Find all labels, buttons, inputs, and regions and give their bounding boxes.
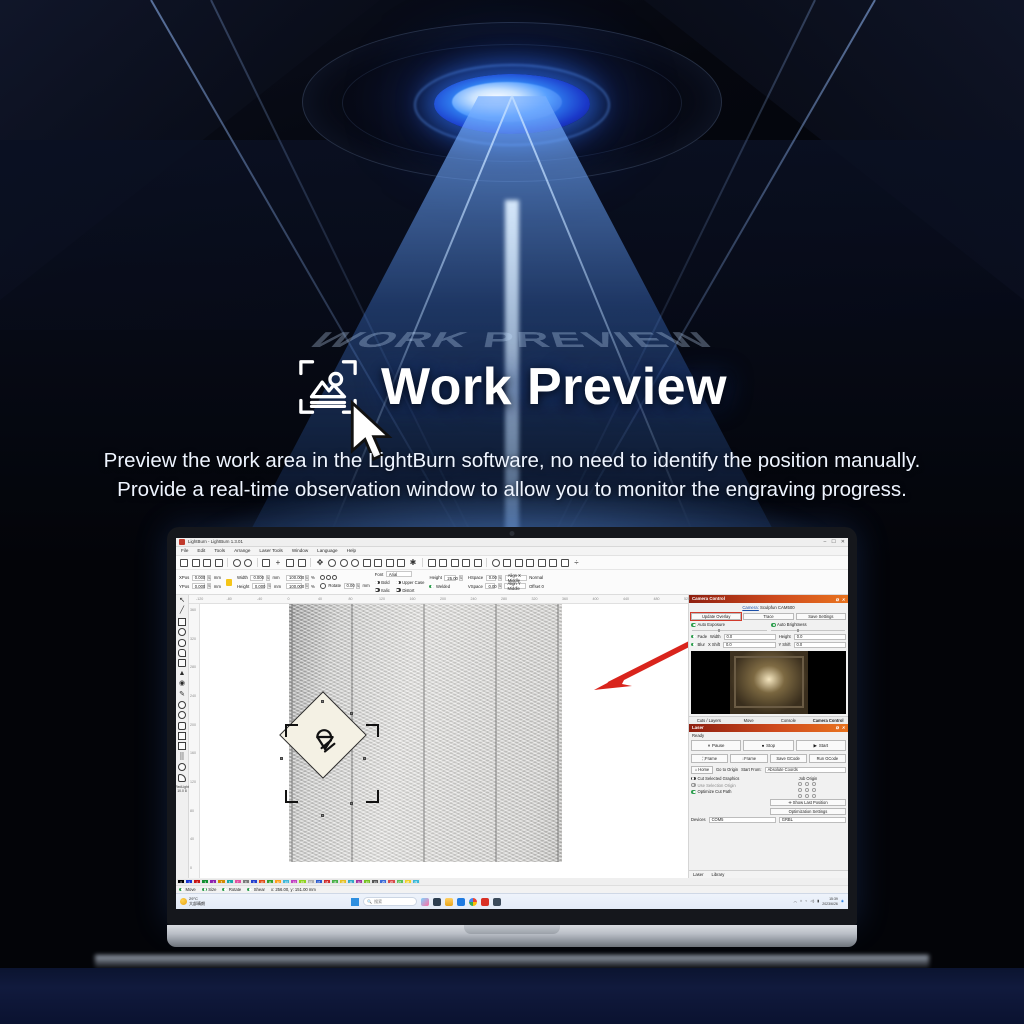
laser-secondary-buttons[interactable]: ⛶ Frame ◌ Frame Save GCode Run GCode	[689, 753, 848, 765]
camera-value[interactable]: Sculpfun CAM500	[760, 605, 795, 610]
auto-exposure-label: Auto Exposure	[698, 622, 725, 627]
optimization-settings-button[interactable]: Optimization Settings	[770, 808, 846, 815]
job-origin-label: Job Origin	[770, 776, 846, 781]
run-gcode-button[interactable]: Run GCode	[809, 754, 846, 763]
close-button[interactable]: ✕	[841, 539, 845, 545]
canvas-area[interactable]: -120-80-40040801201602002402803203604004…	[189, 595, 688, 878]
lock-icon[interactable]	[226, 579, 232, 586]
width-input[interactable]: 0.0	[724, 634, 776, 640]
ruler-tick: 200	[190, 723, 196, 727]
selection-handle[interactable]	[280, 757, 283, 760]
rotate-input[interactable]: 0.00	[344, 583, 354, 589]
palette-swatch[interactable]: 29	[412, 879, 420, 884]
protocol-select[interactable]: GRBL	[779, 817, 846, 823]
vspace-label: VSpace	[468, 584, 483, 589]
device-label: Devices	[691, 817, 706, 822]
use-selection-origin-label: Use Selection Origin	[698, 783, 736, 788]
palette-swatch[interactable]: 0	[177, 879, 185, 884]
delete-icon[interactable]	[298, 559, 306, 567]
select-tool[interactable]: ↖	[178, 597, 186, 605]
frame-circle-label: Frame	[744, 756, 756, 761]
subtitle-line-1: Preview the work area in the LightBurn s…	[0, 446, 1024, 475]
lock-aspect-group[interactable]	[226, 572, 232, 592]
job-origin-grid[interactable]	[798, 782, 819, 798]
align-center-icon[interactable]	[462, 559, 470, 567]
frame-circle-button[interactable]: ◌ Frame	[730, 754, 767, 763]
laptop-notch	[464, 925, 560, 934]
palette-swatch[interactable]: 21	[347, 879, 355, 884]
close-icon[interactable]: ✕	[842, 597, 845, 602]
palette-swatch[interactable]: 9	[250, 879, 258, 884]
lens-core-highlight	[452, 82, 562, 122]
home-icon: ⌂	[695, 767, 697, 772]
xpos-input[interactable]: 0.000	[192, 575, 205, 581]
windows-taskbar[interactable]: 29°C 大部晴朗 🔍 搜索	[176, 893, 848, 909]
auto-brightness-toggle[interactable]: Auto Brightness	[771, 622, 847, 627]
offset-tool[interactable]	[178, 722, 186, 730]
taskbar-center[interactable]: 🔍 搜索	[351, 897, 501, 906]
rounded-rect-tool[interactable]	[178, 659, 186, 667]
menu-arrange[interactable]: Arrange	[234, 548, 250, 554]
cut-icon[interactable]	[262, 559, 270, 567]
grid-icon[interactable]	[561, 559, 569, 567]
palette-swatch[interactable]: 4	[209, 879, 217, 884]
settings-icon[interactable]: ✱	[409, 559, 418, 567]
selection-corner[interactable]	[285, 724, 298, 737]
selection-handle[interactable]	[321, 700, 324, 703]
ruler-tick: -80	[227, 597, 232, 601]
toolbar-separator	[257, 558, 258, 567]
cursor-coordinates: x: 256.00, y: 151.00 mm	[271, 887, 316, 892]
paint-icon[interactable]	[421, 898, 429, 906]
ypos-input[interactable]: 0.000	[192, 583, 205, 589]
close-icon[interactable]: ✕	[842, 725, 845, 730]
laser-origin-row[interactable]: ⌂ Home Go to Origin Start From: Absolute…	[689, 765, 848, 775]
copy-icon[interactable]: +	[274, 559, 283, 567]
use-selection-origin-toggle[interactable]: Use Selection Origin	[691, 783, 767, 788]
frame-square-button[interactable]: ⛶ Frame	[691, 754, 728, 763]
float-window-icon[interactable]: ⧉	[836, 597, 839, 602]
palette-swatch[interactable]: 5	[217, 879, 225, 884]
tab-cuts-layers[interactable]: Cuts / Layers	[689, 717, 729, 724]
palette-swatch[interactable]: 17	[315, 879, 323, 884]
property-bar[interactable]: XPos 0.000 ⇅ mm YPos 0.000 ⇅ mm	[176, 570, 848, 595]
search-input[interactable]: 🔍 搜索	[363, 897, 417, 906]
blur-toggle[interactable]: Blur	[691, 642, 705, 647]
search-icon: 🔍	[367, 899, 372, 904]
hspace-stepper[interactable]: ⇅	[498, 575, 502, 581]
battery-icon[interactable]: ▮	[817, 899, 819, 903]
y-shift-label: Y Shift	[779, 642, 791, 647]
camera-control-title: Camera Control	[692, 596, 725, 602]
pause-button[interactable]: ⏸ Pause	[691, 740, 741, 751]
circle-center-tool[interactable]	[178, 701, 186, 709]
height-input[interactable]: 0.000	[252, 583, 265, 589]
store-icon[interactable]	[457, 898, 465, 906]
move-icon[interactable]: ✥	[316, 559, 325, 567]
bold-toggle[interactable]: Bold	[375, 580, 390, 585]
radial-array-tool[interactable]	[178, 763, 186, 771]
tool-palette[interactable]: ↖ ╱ ▲ ◉ ✎	[176, 595, 189, 878]
device-select[interactable]: COM5	[709, 817, 776, 823]
tab-library[interactable]: Library	[707, 871, 728, 878]
array-icon[interactable]	[549, 559, 557, 567]
home-button[interactable]: ⌂ Home	[691, 766, 713, 774]
xpos-label: XPos	[179, 575, 189, 580]
chrome-icon[interactable]	[469, 898, 477, 906]
rectangle-tool[interactable]	[178, 618, 186, 626]
shear-label: Shear	[254, 887, 265, 892]
engraving-artwork-icon	[308, 720, 342, 754]
palette-swatch[interactable]: 16	[307, 879, 315, 884]
align-left-icon[interactable]	[451, 559, 459, 567]
text-height-label: Height	[429, 575, 441, 580]
menu-window[interactable]: Window	[292, 548, 308, 554]
width-input[interactable]: 0.000	[250, 575, 263, 581]
selection-handle[interactable]	[363, 757, 366, 760]
selection-corner[interactable]	[366, 790, 379, 803]
trace-image-tool[interactable]	[178, 774, 186, 782]
zoom-fit-icon[interactable]	[351, 559, 359, 567]
shear-toggle[interactable]: Shear	[247, 887, 265, 892]
cut-selected-graphics-label: Cut Selected Graphics	[698, 776, 740, 781]
new-file-icon[interactable]	[180, 559, 188, 567]
palette-swatch[interactable]: 25	[379, 879, 387, 884]
palette-swatch[interactable]: 19	[331, 879, 339, 884]
save-settings-button[interactable]: Save Settings	[796, 613, 846, 620]
ruler-tick: 280	[501, 597, 507, 601]
camera-label: Camera:	[742, 605, 758, 610]
clock-date: 2023/6/26	[822, 902, 838, 906]
cut-selected-graphics-toggle[interactable]: Cut Selected Graphics	[691, 776, 767, 781]
optimize-cut-path-toggle[interactable]: Optimize Cut Path	[691, 789, 767, 794]
go-to-origin-label[interactable]: Go to Origin	[716, 767, 738, 772]
grid-array-tool[interactable]	[178, 742, 186, 750]
align-x-select[interactable]: Align X Middle	[505, 575, 527, 581]
ellipse-tool[interactable]	[178, 628, 186, 636]
upper-case-label: Upper Case	[402, 580, 424, 585]
rotate-unit: mm	[363, 583, 370, 588]
xpos-stepper[interactable]: ⇅	[207, 575, 211, 581]
offset-icon[interactable]: ÷	[572, 559, 581, 567]
redo-icon[interactable]	[244, 559, 252, 567]
camera-live-view[interactable]	[691, 651, 846, 714]
align-right-icon[interactable]	[474, 559, 482, 567]
workspace-row: ↖ ╱ ▲ ◉ ✎	[176, 595, 848, 878]
start-label: Start	[819, 743, 828, 749]
dot-grid-tool[interactable]: ⣿	[178, 753, 186, 761]
pause-label: Pause	[712, 743, 724, 749]
float-window-icon[interactable]: ⧉	[836, 725, 839, 730]
menu-language[interactable]: Language	[317, 548, 337, 554]
selection-handle[interactable]	[350, 802, 353, 805]
network-icon[interactable]: ⌗	[800, 899, 802, 903]
recorder-icon[interactable]	[481, 898, 489, 906]
chevron-up-icon[interactable]: ︿	[794, 899, 798, 903]
palette-swatch[interactable]: 28	[404, 879, 412, 884]
circle-tool[interactable]	[178, 639, 186, 647]
ruler-tick: 240	[471, 597, 477, 601]
palette-swatch[interactable]: 1	[185, 879, 193, 884]
draw-line-tool[interactable]: ╱	[178, 607, 186, 615]
x-shift-input[interactable]: 0.0	[723, 642, 776, 648]
optimize-cut-path-label: Optimize Cut Path	[698, 789, 732, 794]
update-overlay-button[interactable]: Update Overlay	[691, 613, 741, 620]
rotate-label: Rotate	[229, 887, 241, 892]
camera-blur-row[interactable]: Blur X Shift 0.0 Y Shift 0.0	[689, 641, 848, 649]
selection-corner[interactable]	[285, 790, 298, 803]
palette-swatch[interactable]: 2	[193, 879, 201, 884]
palette-swatch[interactable]: 13	[282, 879, 290, 884]
welded-toggle[interactable]: Welded	[429, 584, 450, 589]
font-select[interactable]: Arial	[386, 571, 412, 577]
app-icon[interactable]	[493, 898, 501, 906]
palette-swatch[interactable]: 15	[298, 879, 306, 884]
window-controls[interactable]: – ☐ ✕	[824, 539, 845, 545]
notification-icon[interactable]: ◉	[841, 899, 844, 903]
brightness-slider[interactable]	[771, 629, 846, 632]
save-as-icon[interactable]	[215, 559, 223, 567]
design-canvas[interactable]	[200, 604, 688, 878]
palette-swatch[interactable]: 24	[371, 879, 379, 884]
scale-group: 100.000 ⇅ % 100.000 ⇅ %	[286, 572, 315, 592]
rotate-anchor-icon[interactable]	[326, 575, 331, 580]
palette-swatch[interactable]: 20	[339, 879, 347, 884]
palette-swatch[interactable]: 10	[258, 879, 266, 884]
menu-bar[interactable]: File Edit Tools Arrange Laser Tools Wind…	[176, 547, 848, 556]
distort-toggle[interactable]: Distort	[396, 588, 415, 593]
lightburn-logo-icon	[179, 539, 185, 545]
laptop-mockup: LightBurn - LightBurn 1.3.01 – ☐ ✕ File …	[167, 527, 857, 947]
app-title: LightBurn - LightBurn 1.3.01	[188, 539, 243, 545]
polygon-tool[interactable]	[178, 649, 186, 657]
camera-selector-row[interactable]: Camera: Sculpfun CAM500	[689, 603, 848, 611]
y-shift-input[interactable]: 0.0	[794, 642, 847, 648]
paste-icon[interactable]	[286, 559, 294, 567]
move-label: Move	[186, 887, 196, 892]
palette-swatch[interactable]: 18	[323, 879, 331, 884]
palette-swatch[interactable]: 14	[290, 879, 298, 884]
upper-case-toggle[interactable]: Upper Case	[396, 580, 425, 585]
boolean-icon[interactable]	[538, 559, 546, 567]
mirror-v-icon[interactable]	[439, 559, 447, 567]
move-toggle[interactable]: Move	[179, 887, 196, 892]
camera-auto-toggles[interactable]: Auto Exposure Auto Brightness	[689, 621, 848, 628]
menu-edit[interactable]: Edit	[197, 548, 205, 554]
redlight-value: 10.0 8	[176, 790, 189, 794]
size-toggle[interactable]: Size	[202, 887, 217, 892]
wifi-icon[interactable]: ⌁	[805, 899, 807, 903]
zoom-in-icon[interactable]	[328, 559, 336, 567]
weld-icon[interactable]	[526, 559, 534, 567]
dock-tabs[interactable]: Cuts / Layers Move Console Camera Contro…	[689, 716, 848, 724]
weather-widget[interactable]: 29°C 大部晴朗	[180, 897, 205, 906]
height-label: Height	[237, 584, 249, 589]
ruler-tick: 0	[288, 597, 290, 601]
preview-icon[interactable]	[386, 559, 394, 567]
clock[interactable]: 15:39 2023/6/26	[822, 897, 838, 905]
xpos-unit: mm	[214, 575, 221, 580]
ruler-tick: 0	[190, 866, 192, 870]
crosshair-icon: ✛	[788, 800, 791, 805]
open-file-icon[interactable]	[192, 559, 200, 567]
volume-icon[interactable]: ◁)	[810, 899, 814, 903]
ungroup-icon[interactable]	[515, 559, 523, 567]
start-from-select[interactable]: Absolute Coords	[765, 767, 846, 773]
height-input[interactable]: 0.0	[794, 634, 846, 640]
selection-corner[interactable]	[366, 724, 379, 737]
menu-help[interactable]: Help	[347, 548, 356, 554]
palette-swatch[interactable]: 12	[274, 879, 282, 884]
annotation-arrow	[588, 636, 688, 692]
selection-handle[interactable]	[321, 814, 324, 817]
tab-camera-control[interactable]: Camera Control	[808, 717, 848, 724]
start-button[interactable]: ▶ Start	[796, 740, 846, 751]
ypos-stepper[interactable]: ⇅	[207, 583, 211, 589]
frame-icon[interactable]	[363, 559, 371, 567]
main-toolbar[interactable]: + ✥ ✱	[176, 556, 848, 570]
tab-move[interactable]: Move	[729, 717, 769, 724]
copy-array-tool[interactable]	[178, 732, 186, 740]
ruler-tick: 240	[190, 694, 196, 698]
laptop-screen: LightBurn - LightBurn 1.3.01 – ☐ ✕ File …	[176, 538, 848, 909]
trace-button[interactable]: Trace	[743, 613, 793, 620]
rotate-center-icon[interactable]	[320, 583, 326, 589]
normal-label: Normal	[529, 575, 543, 580]
palette-swatch[interactable]: 22	[355, 879, 363, 884]
color-palette[interactable]: 0123456789101112131415161718192021222324…	[176, 878, 848, 885]
show-last-position-button[interactable]: ✛ Show Last Position	[770, 799, 846, 806]
rotate-icon[interactable]	[492, 559, 500, 567]
ruler-tick: 440	[623, 597, 629, 601]
status-bar: Move Size Rotate Shear x: 256.00, y: 151…	[176, 885, 848, 893]
window-icon[interactable]	[433, 898, 441, 906]
promo-scene: WORK PREVIEW Work Preview Preview the wo…	[0, 0, 1024, 1024]
ruler-tick: 120	[379, 597, 385, 601]
minimize-button[interactable]: –	[824, 539, 827, 545]
palette-swatch[interactable]: 23	[363, 879, 371, 884]
italic-toggle[interactable]: Italic	[375, 588, 390, 593]
width-label: Width	[237, 575, 248, 580]
vspace-stepper[interactable]: ⇅	[498, 583, 502, 589]
tab-console[interactable]: Console	[769, 717, 809, 724]
pause-icon: ⏸	[708, 743, 710, 749]
desk-reflection	[95, 955, 929, 969]
palette-swatch[interactable]: 3	[201, 879, 209, 884]
laptop-lid: LightBurn - LightBurn 1.3.01 – ☐ ✕ File …	[167, 527, 857, 925]
camera-icon[interactable]	[374, 559, 382, 567]
align-y-select[interactable]: Align Y Middle	[504, 583, 526, 589]
size-group: Width 0.000 ⇅ mm Height 0.000 ⇅ mm	[237, 572, 281, 592]
hspace-label: HSpace	[468, 575, 483, 580]
zoom-out-icon[interactable]	[340, 559, 348, 567]
width-scale-input[interactable]: 100.000	[286, 575, 302, 581]
tool-icon[interactable]	[397, 559, 405, 567]
palette-swatch[interactable]: 7	[234, 879, 242, 884]
ruler-tick: 280	[190, 665, 196, 669]
text-height-input[interactable]: 25.00	[444, 575, 456, 581]
toolbar-separator	[422, 558, 423, 567]
rotate-stepper[interactable]: ⇅	[356, 583, 360, 589]
save-icon[interactable]	[203, 559, 211, 567]
laser-library-tabs[interactable]: Laser Library	[689, 870, 848, 878]
hspace-input[interactable]: 0.00	[486, 575, 496, 581]
mirror-h-icon[interactable]	[428, 559, 436, 567]
boolean-union-tool[interactable]	[178, 711, 186, 719]
weather-desc: 大部晴朗	[189, 902, 205, 906]
italic-label: Italic	[381, 588, 390, 593]
ruler-tick: 80	[190, 809, 194, 813]
height-stepper[interactable]: ⇅	[267, 583, 271, 589]
rotate-anchor-icon[interactable]	[332, 575, 337, 580]
vspace-input[interactable]: 0.00	[485, 583, 495, 589]
height-scale-stepper[interactable]: ⇅	[305, 583, 309, 589]
stop-button[interactable]: ⏹ Stop	[743, 740, 793, 751]
ruler-tick: 360	[562, 597, 568, 601]
file-explorer-icon[interactable]	[445, 898, 453, 906]
save-gcode-button[interactable]: Save GCode	[770, 754, 807, 763]
dock-bottom: Laser Library	[689, 870, 848, 878]
fade-toggle[interactable]: Fade	[691, 634, 707, 639]
device-row[interactable]: Devices COM5 GRBL	[689, 816, 848, 824]
laptop-base	[167, 925, 857, 947]
rotate-anchor-icon[interactable]	[320, 575, 325, 580]
menu-laser-tools[interactable]: Laser Tools	[259, 548, 282, 554]
right-dock: Camera Control ⧉ ✕ Camera: Sculpfun CAM5…	[688, 595, 848, 878]
palette-swatch[interactable]: 27	[396, 879, 404, 884]
height-scale-unit: %	[311, 584, 315, 589]
height-scale-input[interactable]: 100.000	[286, 583, 302, 589]
palette-swatch[interactable]: 11	[266, 879, 274, 884]
play-icon: ▶	[813, 743, 816, 749]
menu-tools[interactable]: Tools	[214, 548, 225, 554]
maximize-button[interactable]: ☐	[831, 539, 835, 545]
undo-icon[interactable]	[233, 559, 241, 567]
text-tool[interactable]: ▲	[178, 670, 186, 678]
ruler-tick: -40	[257, 597, 262, 601]
pen-tool[interactable]: ✎	[178, 691, 186, 699]
text-height-stepper[interactable]: ⇅	[459, 575, 463, 581]
webcam-icon	[510, 531, 515, 536]
width-scale-stepper[interactable]: ⇅	[305, 575, 309, 581]
windows-start-icon[interactable]	[351, 898, 359, 906]
width-stepper[interactable]: ⇅	[266, 575, 270, 581]
system-tray[interactable]: ︿ ⌗ ⌁ ◁) ▮ 15:39 2023/6/26 ◉	[794, 897, 844, 905]
laser-job-origin-row[interactable]: Cut Selected Graphics Use Selection Orig…	[689, 775, 848, 816]
background-watermark: WORK PREVIEW	[298, 330, 726, 350]
menu-file[interactable]: File	[181, 548, 188, 554]
ruler-tick: 160	[190, 751, 196, 755]
size-label: Size	[208, 887, 216, 892]
selection-handle[interactable]	[350, 712, 353, 715]
palette-swatch[interactable]: 8	[242, 879, 250, 884]
exposure-slider[interactable]	[692, 629, 767, 632]
font-group: Font Arial Bold Upper Case Italic Distor…	[375, 572, 425, 592]
rotate-toggle[interactable]: Rotate	[222, 887, 241, 892]
palette-swatch[interactable]: 26	[387, 879, 395, 884]
redlight-readout: RedLight 10.0 8	[176, 786, 189, 794]
laser-main-buttons[interactable]: ⏸ Pause ⏹ Stop ▶ Start	[689, 739, 848, 753]
auto-exposure-toggle[interactable]: Auto Exposure	[691, 622, 767, 627]
palette-swatch[interactable]: 6	[226, 879, 234, 884]
camera-action-buttons[interactable]: Update Overlay Trace Save Settings	[689, 611, 848, 621]
width-unit: mm	[272, 575, 279, 580]
node-edit-tool[interactable]: ◉	[178, 680, 186, 688]
group-icon[interactable]	[503, 559, 511, 567]
laser-panel-titlebar: Laser ⧉ ✕	[689, 724, 848, 732]
camera-fade-row[interactable]: Fade Width 0.0 Height 0.0	[689, 633, 848, 641]
tab-laser[interactable]: Laser	[689, 871, 707, 878]
